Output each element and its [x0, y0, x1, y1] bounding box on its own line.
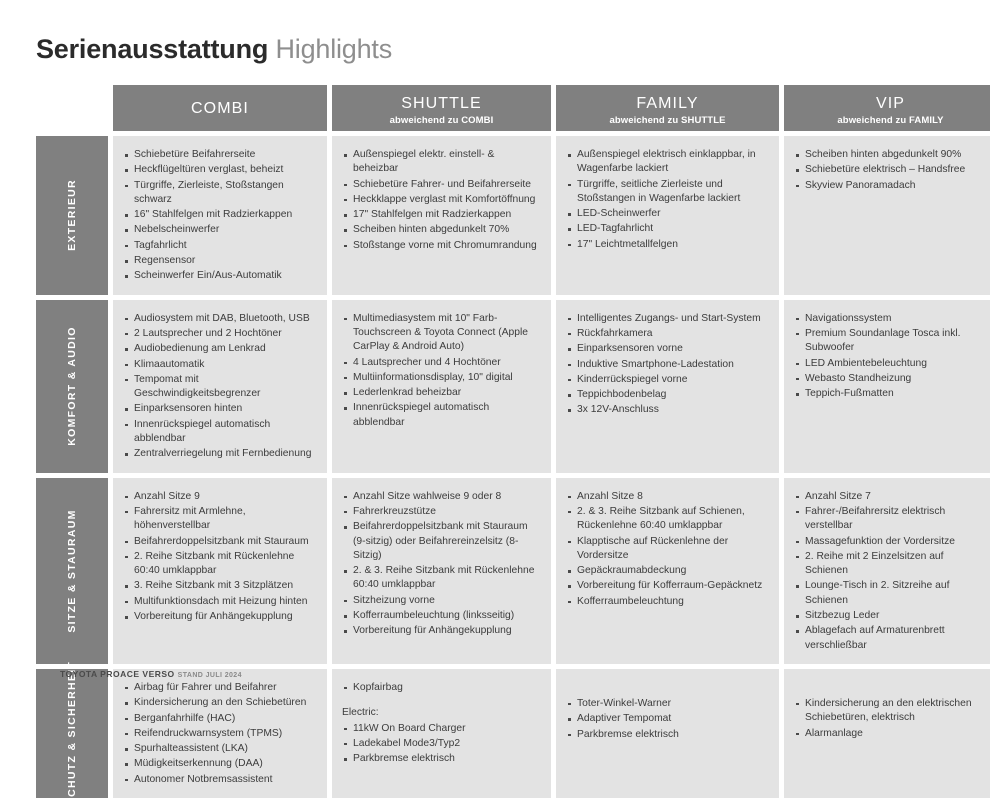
feature-item: Ablagefach auf Armaturenbrett verschließ… — [794, 624, 987, 653]
feature-list: Audiosystem mit DAB, Bluetooth, USB2 Lau… — [123, 312, 317, 462]
feature-item: Nebelscheinwerfer — [123, 223, 317, 237]
table-cell: Anzahl Sitze 9Fahrersitz mit Armlehne, h… — [113, 478, 327, 664]
row-header-label: KOMFORT & AUDIO — [65, 326, 79, 445]
table-cell: Multimediasystem mit 10" Farb-Touchscree… — [332, 300, 551, 473]
table-corner — [36, 85, 108, 131]
table-cell: Schiebetüre BeifahrerseiteHeckflügeltüre… — [113, 136, 327, 295]
feature-item: 16" Stahlfelgen mit Radzierkappen — [123, 208, 317, 222]
feature-list: Schiebetüre BeifahrerseiteHeckflügeltüre… — [123, 148, 317, 284]
feature-item: Multiinformationsdisplay, 10" digital — [342, 371, 541, 385]
feature-item: Induktive Smartphone-Ladestation — [566, 358, 769, 372]
row-header-label: SITZE & STAURAUM — [65, 509, 79, 632]
feature-item: Fahrersitz mit Armlehne, höhenverstellba… — [123, 505, 317, 534]
page-title-strong: Serienausstattung — [36, 34, 268, 64]
table-cell: Außenspiegel elektrisch einklappbar, in … — [556, 136, 779, 295]
feature-item: Stoßstange vorne mit Chromumrandung — [342, 239, 541, 253]
feature-item: Webasto Standheizung — [794, 372, 987, 386]
feature-item: 2. & 3. Reihe Sitzbank mit Rückenlehne 6… — [342, 564, 541, 593]
feature-item: Skyview Panoramadach — [794, 179, 987, 193]
feature-item: Lounge-Tisch in 2. Sitzreihe auf Schiene… — [794, 579, 987, 608]
feature-item: Kindersicherung an den elektrischen Schi… — [794, 697, 987, 726]
feature-list: Anzahl Sitze wahlweise 9 oder 8Fahrerkre… — [342, 490, 541, 639]
column-header-name: FAMILY — [562, 95, 773, 113]
feature-item: Vorbereitung für Anhängekupplung — [342, 624, 541, 638]
feature-item: Vorbereitung für Anhängekupplung — [123, 610, 317, 624]
feature-item: Scheinwerfer Ein/Aus-Automatik — [123, 269, 317, 283]
feature-list: NavigationssystemPremium Soundanlage Tos… — [794, 312, 987, 402]
feature-item: Gepäckraumabdeckung — [566, 564, 769, 578]
column-header-name: COMBI — [119, 100, 321, 118]
feature-list: Intelligentes Zugangs- und Start-SystemR… — [566, 312, 769, 418]
column-header-name: VIP — [790, 95, 990, 113]
column-header-combi[interactable]: COMBI — [113, 85, 327, 131]
feature-list: Außenspiegel elektrisch einklappbar, in … — [566, 148, 769, 252]
column-header-subtitle: abweichend zu COMBI — [338, 114, 545, 127]
column-header-subtitle: abweichend zu SHUTTLE — [562, 114, 773, 127]
feature-item: Kofferraumbeleuchtung — [566, 595, 769, 609]
table-cell: Außenspiegel elektr. einstell- & beheizb… — [332, 136, 551, 295]
feature-item: Klimaautomatik — [123, 358, 317, 372]
feature-item: Kopfairbag — [342, 681, 541, 695]
feature-item: Türgriffe, seitliche Zierleiste und Stoß… — [566, 178, 769, 207]
feature-list: Kopfairbag — [342, 681, 541, 695]
feature-list: Anzahl Sitze 7Fahrer-/Beifahrersitz elek… — [794, 490, 987, 653]
feature-list: Toter-Winkel-WarnerAdaptiver TempomatPar… — [566, 697, 769, 742]
feature-item: Autonomer Notbremsassistent — [123, 773, 317, 787]
feature-item: Heckflügeltüren verglast, beheizt — [123, 163, 317, 177]
feature-item: Audiobedienung am Lenkrad — [123, 342, 317, 356]
feature-item: Beifahrerdoppelsitzbank mit Stauraum (9-… — [342, 520, 541, 563]
column-header-name: SHUTTLE — [338, 95, 545, 113]
feature-item: Anzahl Sitze 8 — [566, 490, 769, 504]
feature-item: Multimediasystem mit 10" Farb-Touchscree… — [342, 312, 541, 355]
feature-item: Audiosystem mit DAB, Bluetooth, USB — [123, 312, 317, 326]
feature-item: Müdigkeitserkennung (DAA) — [123, 757, 317, 771]
feature-item: Heckklappe verglast mit Komfortöffnung — [342, 193, 541, 207]
feature-item: 2 Lautsprecher und 2 Hochtöner — [123, 327, 317, 341]
feature-item: Vorbereitung für Kofferraum-Gepäcknetz — [566, 579, 769, 593]
feature-item: Massagefunktion der Vordersitze — [794, 535, 987, 549]
feature-item: Adaptiver Tempomat — [566, 712, 769, 726]
row-header-label: EXTERIEUR — [65, 179, 79, 251]
feature-item: Anzahl Sitze 7 — [794, 490, 987, 504]
table-cell: Airbag für Fahrer und BeifahrerKindersic… — [113, 669, 327, 798]
feature-item: Reifendruckwarnsystem (TPMS) — [123, 727, 317, 741]
feature-item: 17" Leichtmetallfelgen — [566, 238, 769, 252]
feature-list: Anzahl Sitze 9Fahrersitz mit Armlehne, h… — [123, 490, 317, 625]
feature-item: Klapptische auf Rückenlehne der Vordersi… — [566, 535, 769, 564]
feature-item: Premium Soundanlage Tosca inkl. Subwoofe… — [794, 327, 987, 356]
feature-item: Lederlenkrad beheizbar — [342, 386, 541, 400]
table-cell: Kindersicherung an den elektrischen Schi… — [784, 669, 990, 798]
feature-item: 2. & 3. Reihe Sitzbank auf Schienen, Rüc… — [566, 505, 769, 534]
feature-item: Intelligentes Zugangs- und Start-System — [566, 312, 769, 326]
row-header-schutz-sicherheit[interactable]: SCHUTZ & SICHERHEIT — [36, 669, 108, 798]
row-header-label: SCHUTZ & SICHERHEIT — [65, 661, 79, 805]
feature-item: 4 Lautsprecher und 4 Hochtöner — [342, 356, 541, 370]
feature-item: Toter-Winkel-Warner — [566, 697, 769, 711]
feature-item: Teppichbodenbelag — [566, 388, 769, 402]
table-cell: Scheiben hinten abgedunkelt 90%Schiebetü… — [784, 136, 990, 295]
column-header-shuttle[interactable]: SHUTTLEabweichend zu COMBI — [332, 85, 551, 131]
feature-list: Scheiben hinten abgedunkelt 90%Schiebetü… — [794, 148, 987, 193]
feature-item: Fahrer-/Beifahrersitz elektrisch verstel… — [794, 505, 987, 534]
page-title-light: Highlights — [275, 34, 392, 64]
feature-list: Anzahl Sitze 82. & 3. Reihe Sitzbank auf… — [566, 490, 769, 609]
row-header-komfort-audio[interactable]: KOMFORT & AUDIO — [36, 300, 108, 473]
feature-item: Berganfahrhilfe (HAC) — [123, 712, 317, 726]
feature-item: Zentralverriegelung mit Fernbedienung — [123, 447, 317, 461]
feature-item: LED-Tagfahrlicht — [566, 222, 769, 236]
feature-item: Kinderrückspiegel vorne — [566, 373, 769, 387]
footer: TOYOTA PROACE VERSOSTAND JULI 2024 — [60, 664, 242, 682]
feature-item: LED-Scheinwerfer — [566, 207, 769, 221]
feature-item: Türgriffe, Zierleiste, Stoßstangen schwa… — [123, 179, 317, 208]
table-cell: Toter-Winkel-WarnerAdaptiver TempomatPar… — [556, 669, 779, 798]
page-title: Serienausstattung Highlights — [36, 34, 966, 65]
feature-item: Innenrückspiegel automatisch abblendbar — [342, 401, 541, 430]
table-cell: Audiosystem mit DAB, Bluetooth, USB2 Lau… — [113, 300, 327, 473]
row-header-sitze-stauraum[interactable]: SITZE & STAURAUM — [36, 478, 108, 664]
feature-item: Schiebetüre elektrisch – Handsfree — [794, 163, 987, 177]
table-cell: KopfairbagElectric:11kW On Board Charger… — [332, 669, 551, 798]
table-cell: NavigationssystemPremium Soundanlage Tos… — [784, 300, 990, 473]
table-cell: Anzahl Sitze 7Fahrer-/Beifahrersitz elek… — [784, 478, 990, 664]
feature-item: Schiebetüre Fahrer- und Beifahrerseite — [342, 178, 541, 192]
table-cell: Intelligentes Zugangs- und Start-SystemR… — [556, 300, 779, 473]
equipment-comparison-table: COMBISHUTTLEabweichend zu COMBIFAMILYabw… — [36, 85, 982, 798]
row-header-exterieur[interactable]: EXTERIEUR — [36, 136, 108, 295]
feature-item: Tagfahrlicht — [123, 239, 317, 253]
feature-item: Rückfahrkamera — [566, 327, 769, 341]
feature-item: 17" Stahlfelgen mit Radzierkappen — [342, 208, 541, 222]
feature-item: Kindersicherung an den Schiebetüren — [123, 696, 317, 710]
feature-item: Außenspiegel elektrisch einklappbar, in … — [566, 148, 769, 177]
feature-item: 2. Reihe mit 2 Einzelsitzen auf Schienen — [794, 550, 987, 579]
feature-item: 3x 12V-Anschluss — [566, 403, 769, 417]
feature-item: Spurhalteassistent (LKA) — [123, 742, 317, 756]
column-header-subtitle: abweichend zu FAMILY — [790, 114, 990, 127]
feature-item: Innenrückspiegel automatisch abblendbar — [123, 418, 317, 447]
feature-item: Parkbremse elektrisch — [566, 728, 769, 742]
feature-item: Multifunktionsdach mit Heizung hinten — [123, 595, 317, 609]
feature-item: Navigationssystem — [794, 312, 987, 326]
feature-item: Kofferraumbeleuchtung (linksseitig) — [342, 609, 541, 623]
feature-item: Schiebetüre Beifahrerseite — [123, 148, 317, 162]
column-header-family[interactable]: FAMILYabweichend zu SHUTTLE — [556, 85, 779, 131]
feature-item: 11kW On Board Charger — [342, 722, 541, 736]
feature-item: LED Ambientebeleuchtung — [794, 357, 987, 371]
feature-list: Kindersicherung an den elektrischen Schi… — [794, 697, 987, 741]
column-header-vip[interactable]: VIPabweichend zu FAMILY — [784, 85, 990, 131]
feature-item: Beifahrerdoppelsitzbank mit Stauraum — [123, 535, 317, 549]
feature-item: Anzahl Sitze wahlweise 9 oder 8 — [342, 490, 541, 504]
feature-item: Außenspiegel elektr. einstell- & beheizb… — [342, 148, 541, 177]
feature-item: Sitzheizung vorne — [342, 594, 541, 608]
feature-list: Multimediasystem mit 10" Farb-Touchscree… — [342, 312, 541, 430]
feature-list: 11kW On Board ChargerLadekabel Mode3/Typ… — [342, 722, 541, 767]
feature-item: Alarmanlage — [794, 727, 987, 741]
table-cell: Anzahl Sitze wahlweise 9 oder 8Fahrerkre… — [332, 478, 551, 664]
feature-item: Sitzbezug Leder — [794, 609, 987, 623]
feature-item: Regensensor — [123, 254, 317, 268]
feature-item: 3. Reihe Sitzbank mit 3 Sitzplätzen — [123, 579, 317, 593]
footer-model: TOYOTA PROACE VERSO — [60, 669, 175, 679]
feature-item: Tempomat mit Geschwindigkeitsbegrenzer — [123, 373, 317, 402]
footer-date: STAND JULI 2024 — [178, 672, 242, 679]
feature-item: Scheiben hinten abgedunkelt 70% — [342, 223, 541, 237]
table-cell: Anzahl Sitze 82. & 3. Reihe Sitzbank auf… — [556, 478, 779, 664]
spec-sheet-page: Serienausstattung Highlights COMBISHUTTL… — [0, 0, 990, 700]
feature-list: Airbag für Fahrer und BeifahrerKindersic… — [123, 681, 317, 787]
feature-item: Anzahl Sitze 9 — [123, 490, 317, 504]
feature-item: 2. Reihe Sitzbank mit Rückenlehne 60:40 … — [123, 550, 317, 579]
feature-item: Ladekabel Mode3/Typ2 — [342, 737, 541, 751]
feature-item: Fahrerkreuzstütze — [342, 505, 541, 519]
feature-item: Scheiben hinten abgedunkelt 90% — [794, 148, 987, 162]
feature-item: Parkbremse elektrisch — [342, 752, 541, 766]
feature-item: Einparksensoren hinten — [123, 402, 317, 416]
feature-item: Teppich-Fußmatten — [794, 387, 987, 401]
feature-item: Einparksensoren vorne — [566, 342, 769, 356]
feature-group-subhead: Electric: — [342, 706, 541, 720]
feature-list: Außenspiegel elektr. einstell- & beheizb… — [342, 148, 541, 253]
feature-item: Airbag für Fahrer und Beifahrer — [123, 681, 317, 695]
